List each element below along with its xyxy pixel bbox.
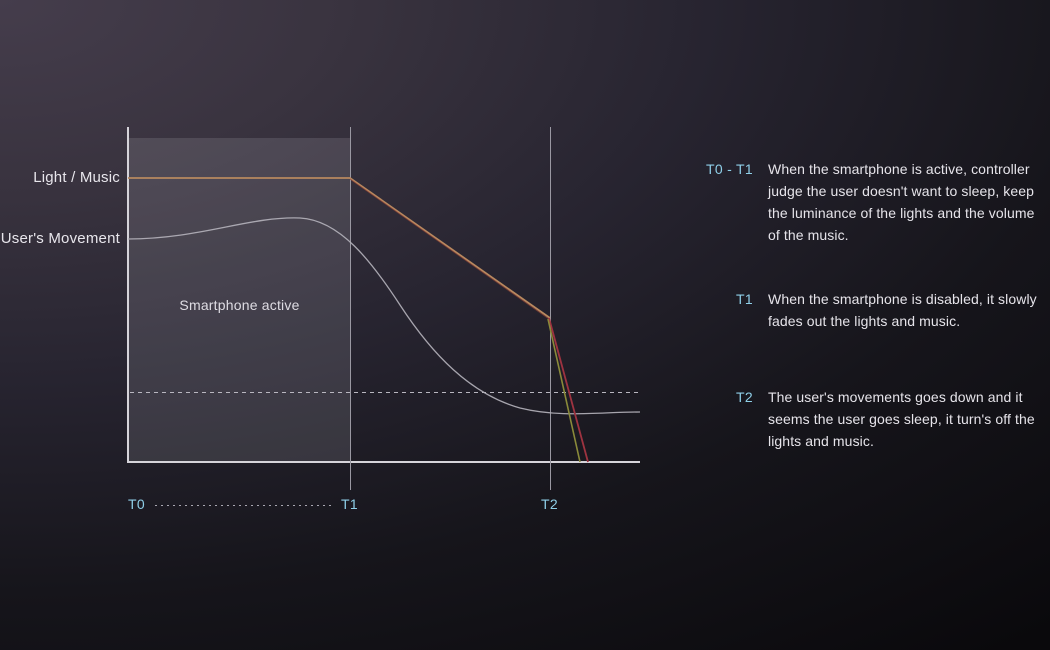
curve-layer [0,0,690,650]
t0-t1-dotted-connector [155,505,333,506]
slide-canvas: Light / Music User's Movement Smartphone… [0,0,1050,650]
light-music-overlay [350,179,549,319]
note-t2-text: The user's movements goes down and it se… [768,386,1040,452]
note-t0-t1-text: When the smartphone is active, controlle… [768,158,1040,246]
smartphone-active-caption: Smartphone active [129,297,350,313]
axis-label-light-music: Light / Music [0,169,120,187]
tick-label-t0: T0 [128,496,145,512]
note-t2-key: T2 [690,386,753,408]
note-t1-key: T1 [690,288,753,310]
axis-label-users-movement: User's Movement [0,230,120,248]
note-t1: T1 When the smartphone is disabled, it s… [690,288,1050,332]
tick-label-t1: T1 [341,496,358,512]
description-panel: T0 - T1 When the smartphone is active, c… [690,0,1050,650]
timeline-chart: Light / Music User's Movement Smartphone… [0,0,690,650]
axis-label-users-movement-text: User's Movement [1,230,120,247]
axis-label-light-music-text: Light / Music [33,169,120,186]
note-t1-text: When the smartphone is disabled, it slow… [768,288,1040,332]
note-t0-t1-key: T0 - T1 [690,158,753,180]
tick-label-t2: T2 [541,496,558,512]
light-fade-branch [549,318,588,462]
music-fade-branch [548,319,580,462]
note-t0-t1: T0 - T1 When the smartphone is active, c… [690,158,1050,246]
note-t2: T2 The user's movements goes down and it… [690,386,1050,452]
